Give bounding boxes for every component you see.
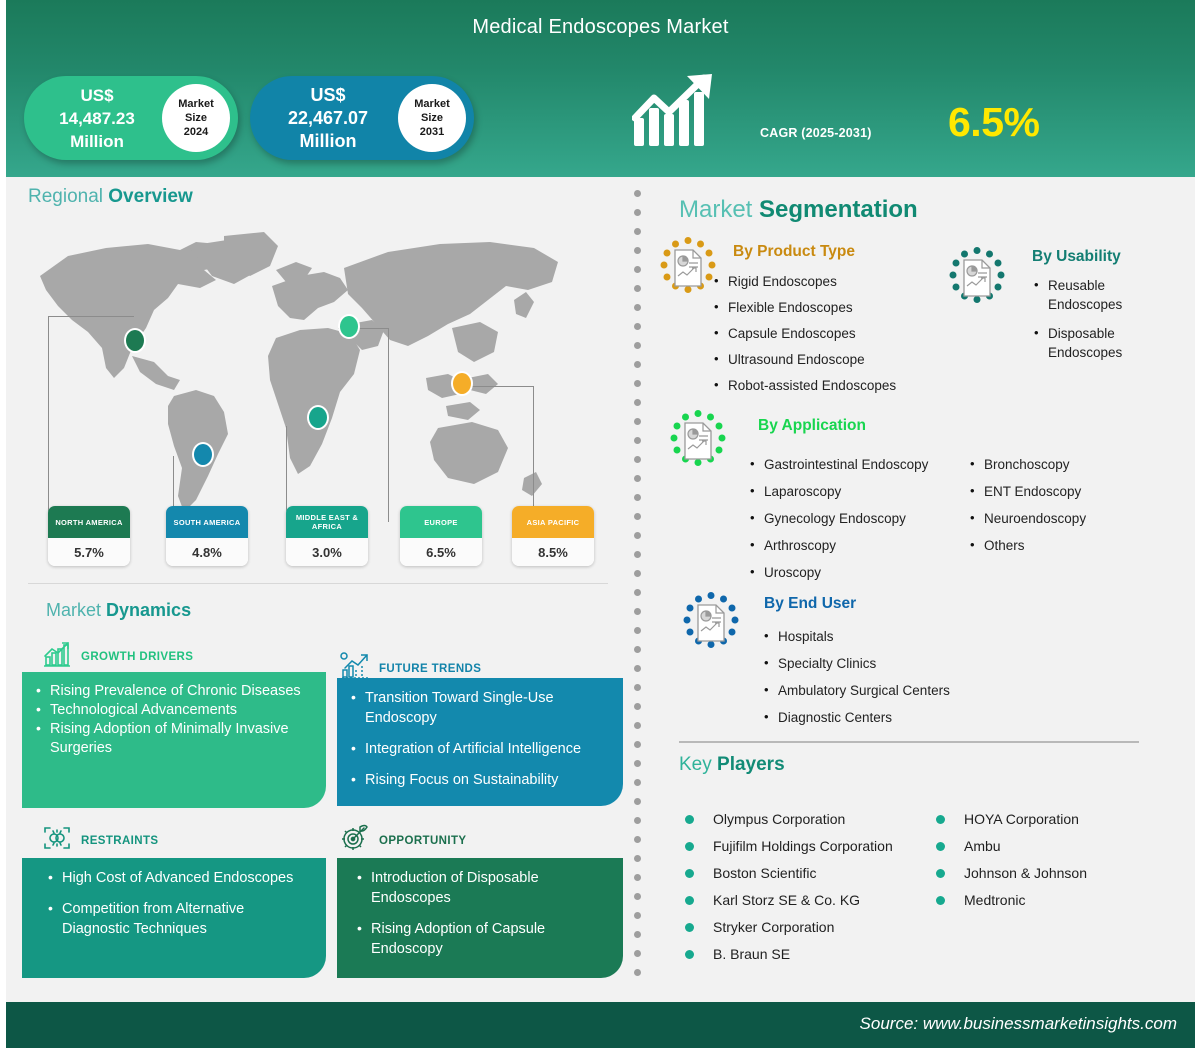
list-item: Neuroendoscopy	[968, 510, 1168, 527]
list-item: HOYA Corporation	[930, 810, 1180, 828]
divider-dot	[634, 228, 641, 235]
segment-list-end-user: Hospitals Specialty Clinics Ambulatory S…	[762, 628, 1012, 736]
bar-chart-arrow-up-icon	[632, 74, 718, 150]
growth-drivers-card: Rising Prevalence of Chronic Diseases Te…	[22, 672, 326, 808]
list-item: Transition Toward Single-Use Endoscopy	[351, 688, 609, 728]
list-item: Laparoscopy	[748, 483, 978, 500]
list-item: Fujifilm Holdings Corporation	[679, 837, 959, 855]
header-banner: Medical Endoscopes Market US$ 14,487.23 …	[0, 0, 1201, 177]
divider-dot	[634, 836, 641, 843]
list-item: ENT Endoscopy	[968, 483, 1168, 500]
amount-line-value: 14,487.23	[32, 107, 162, 130]
opportunity-label: OPPORTUNITY	[379, 835, 466, 847]
divider-dot	[634, 627, 641, 634]
list-item: Rigid Endoscopes	[712, 273, 932, 290]
divider-dot	[634, 456, 641, 463]
badge-line2: Size	[421, 111, 443, 125]
divider-dot	[634, 475, 641, 482]
leader-line-asia-pacific	[533, 386, 534, 522]
list-item: Diagnostic Centers	[762, 709, 1012, 726]
list-item: Stryker Corporation	[679, 918, 959, 936]
divider-dot	[634, 608, 641, 615]
growth-drivers-list: Rising Prevalence of Chronic Diseases Te…	[36, 682, 312, 758]
vertical-dotted-divider	[634, 190, 642, 990]
amount-line-currency: US$	[258, 84, 398, 107]
list-item: Hospitals	[762, 628, 1012, 645]
restraints-list: High Cost of Advanced Endoscopes Competi…	[48, 868, 312, 939]
gear-target-icon	[340, 824, 370, 857]
growth-drivers-header: GROWTH DRIVERS	[42, 640, 193, 673]
list-item: Ambulatory Surgical Centers	[762, 682, 1012, 699]
region-value: 3.0%	[286, 538, 368, 566]
list-item: Rising Prevalence of Chronic Diseases	[36, 682, 312, 701]
world-map	[28, 228, 608, 518]
title-light: Regional	[28, 186, 103, 207]
badge-line3: 2031	[420, 125, 444, 139]
title-light: Key	[679, 754, 712, 775]
divider-dot	[634, 874, 641, 881]
divider-dot	[634, 798, 641, 805]
leader-line-asia-pacific-h	[463, 386, 534, 387]
divider-dot	[634, 931, 641, 938]
opportunity-card: Introduction of Disposable Endoscopes Ri…	[337, 858, 623, 978]
divider-dot	[634, 494, 641, 501]
segment-list-application-col2: Bronchoscopy ENT Endoscopy Neuroendoscop…	[968, 456, 1168, 564]
region-card-north-america[interactable]: NORTH AMERICA 5.7%	[48, 506, 130, 566]
list-item: Rising Focus on Sustainability	[351, 770, 609, 790]
leader-line-north-america	[48, 316, 49, 522]
divider-dot	[634, 513, 641, 520]
restraints-label: RESTRAINTS	[81, 835, 158, 847]
infographic-page: Medical Endoscopes Market US$ 14,487.23 …	[0, 0, 1201, 1048]
region-card-south-america[interactable]: SOUTH AMERICA 4.8%	[166, 506, 248, 566]
divider-dot	[634, 950, 641, 957]
divider-dot	[634, 912, 641, 919]
divider-dot	[634, 437, 641, 444]
region-name: NORTH AMERICA	[48, 506, 130, 538]
title-bold: Dynamics	[106, 600, 191, 620]
source-text: Source: www.businessmarketinsights.com	[860, 1014, 1177, 1034]
list-item: Uroscopy	[748, 564, 978, 581]
amount-line-currency: US$	[32, 84, 162, 107]
divider-dot	[634, 570, 641, 577]
divider-dot	[634, 969, 641, 976]
divider-dot	[634, 665, 641, 672]
segment-heading-end-user: By End User	[764, 595, 856, 613]
report-document-icon	[946, 247, 1008, 309]
market-dynamics-title: Market Dynamics	[46, 600, 191, 621]
divider-dot	[634, 893, 641, 900]
map-marker-middle-east-africa	[307, 405, 329, 431]
region-value: 5.7%	[48, 538, 130, 566]
badge-line3: 2024	[184, 125, 208, 139]
page-title: Medical Endoscopes Market	[0, 16, 1201, 39]
market-size-2024-badge: Market Size 2024	[162, 84, 230, 152]
right-edge-margin	[1195, 0, 1201, 1048]
list-item: Rising Adoption of Capsule Endoscopy	[357, 919, 609, 959]
future-trends-card: Transition Toward Single-Use Endoscopy I…	[337, 678, 623, 806]
key-players-column-1: Olympus Corporation Fujifilm Holdings Co…	[679, 810, 959, 972]
market-size-2024-amount: US$ 14,487.23 Million	[24, 84, 162, 153]
divider-dot	[634, 760, 641, 767]
title-bold: Segmentation	[759, 196, 918, 223]
region-card-middle-east-africa[interactable]: MIDDLE EAST & AFRICA 3.0%	[286, 506, 368, 566]
map-marker-north-america	[124, 328, 146, 354]
list-item: Robot-assisted Endoscopes	[712, 377, 932, 394]
opportunity-header: OPPORTUNITY	[340, 824, 466, 857]
regional-overview-title: Regional Overview	[28, 186, 193, 208]
list-item: Competition from Alternative Diagnostic …	[48, 899, 312, 939]
list-item: B. Braun SE	[679, 945, 959, 963]
divider-dot	[634, 304, 641, 311]
region-name: SOUTH AMERICA	[166, 506, 248, 538]
divider-dot	[634, 399, 641, 406]
region-value: 4.8%	[166, 538, 248, 566]
list-item: Boston Scientific	[679, 864, 959, 882]
list-item: Ambu	[930, 837, 1180, 855]
market-size-2031-badge: Market Size 2031	[398, 84, 466, 152]
region-name: EUROPE	[400, 506, 482, 538]
title-light: Market	[46, 600, 101, 620]
divider-dot	[634, 741, 641, 748]
list-item: High Cost of Advanced Endoscopes	[48, 868, 312, 888]
divider-dot	[634, 646, 641, 653]
amount-line-unit: Million	[32, 130, 162, 153]
region-name: MIDDLE EAST & AFRICA	[286, 506, 368, 538]
list-item: Technological Advancements	[36, 701, 312, 720]
report-document-icon	[667, 410, 729, 472]
section-divider	[28, 583, 608, 584]
divider-dot	[634, 703, 641, 710]
title-light: Market	[679, 196, 752, 223]
map-marker-europe	[338, 314, 360, 340]
leader-line-north-america-h	[48, 316, 134, 317]
title-bold: Overview	[108, 186, 193, 207]
key-players-divider	[679, 741, 1139, 743]
market-segmentation-title: Market Segmentation	[679, 196, 918, 224]
list-item: Disposable Endoscopes	[1032, 324, 1137, 362]
list-item: Others	[968, 537, 1168, 554]
list-item: Medtronic	[930, 891, 1180, 909]
region-value: 8.5%	[512, 538, 594, 566]
region-value: 6.5%	[400, 538, 482, 566]
list-item: Gastrointestinal Endoscopy	[748, 456, 978, 473]
market-size-2031-amount: US$ 22,467.07 Million	[250, 84, 398, 153]
divider-dot	[634, 532, 641, 539]
list-item: Flexible Endoscopes	[712, 299, 932, 316]
broken-link-icon	[42, 824, 72, 857]
divider-dot	[634, 589, 641, 596]
divider-dot	[634, 855, 641, 862]
list-item: Arthroscopy	[748, 537, 978, 554]
badge-line1: Market	[178, 97, 213, 111]
list-item: Rising Adoption of Minimally Invasive Su…	[36, 720, 312, 758]
growth-drivers-label: GROWTH DRIVERS	[81, 651, 193, 663]
growth-chart-icon	[42, 640, 72, 673]
segment-list-product-type: Rigid Endoscopes Flexible Endoscopes Cap…	[712, 273, 932, 403]
list-item: Gynecology Endoscopy	[748, 510, 978, 527]
divider-dot	[634, 361, 641, 368]
report-document-icon	[680, 592, 742, 654]
report-document-icon	[657, 237, 719, 299]
list-item: Introduction of Disposable Endoscopes	[357, 868, 609, 908]
list-item: Capsule Endoscopes	[712, 325, 932, 342]
segment-heading-usability: By Usability	[1032, 248, 1121, 266]
list-item: Johnson & Johnson	[930, 864, 1180, 882]
amount-line-value: 22,467.07	[258, 107, 398, 130]
map-marker-south-america	[192, 442, 214, 468]
list-item: Integration of Artificial Intelligence	[351, 739, 609, 759]
left-edge-margin	[0, 0, 6, 1048]
divider-dot	[634, 266, 641, 273]
divider-dot	[634, 551, 641, 558]
key-players-column-2: HOYA Corporation Ambu Johnson & Johnson …	[930, 810, 1180, 918]
divider-dot	[634, 190, 641, 197]
future-trends-list: Transition Toward Single-Use Endoscopy I…	[351, 688, 609, 790]
divider-dot	[634, 779, 641, 786]
segment-list-application-col1: Gastrointestinal Endoscopy Laparoscopy G…	[748, 456, 978, 591]
restraints-header: RESTRAINTS	[42, 824, 158, 857]
title-bold: Players	[717, 754, 785, 775]
divider-dot	[634, 684, 641, 691]
divider-dot	[634, 342, 641, 349]
market-size-2031-pill: US$ 22,467.07 Million Market Size 2031	[250, 76, 474, 160]
divider-dot	[634, 817, 641, 824]
divider-dot	[634, 285, 641, 292]
opportunity-list: Introduction of Disposable Endoscopes Ri…	[357, 868, 609, 959]
divider-dot	[634, 209, 641, 216]
leader-line-europe	[388, 328, 389, 522]
list-item: Ultrasound Endoscope	[712, 351, 932, 368]
segment-list-usability: Reusable Endoscopes Disposable Endoscope…	[1032, 276, 1137, 372]
map-marker-asia-pacific	[451, 371, 473, 397]
key-players-title: Key Players	[679, 754, 785, 776]
cagr-label: CAGR (2025-2031)	[760, 126, 872, 140]
divider-dot	[634, 722, 641, 729]
region-card-europe[interactable]: EUROPE 6.5%	[400, 506, 482, 566]
segment-heading-application: By Application	[758, 417, 866, 435]
future-trends-label: FUTURE TRENDS	[379, 663, 481, 675]
region-card-asia-pacific[interactable]: ASIA PACIFIC 8.5%	[512, 506, 594, 566]
amount-line-unit: Million	[258, 130, 398, 153]
market-size-2024-pill: US$ 14,487.23 Million Market Size 2024	[24, 76, 238, 160]
divider-dot	[634, 418, 641, 425]
segment-heading-product-type: By Product Type	[733, 243, 855, 261]
divider-dot	[634, 247, 641, 254]
footer-bar: Source: www.businessmarketinsights.com	[0, 1002, 1201, 1048]
badge-line2: Size	[185, 111, 207, 125]
restraints-card: High Cost of Advanced Endoscopes Competi…	[22, 858, 326, 978]
list-item: Bronchoscopy	[968, 456, 1168, 473]
list-item: Reusable Endoscopes	[1032, 276, 1137, 314]
list-item: Karl Storz SE & Co. KG	[679, 891, 959, 909]
list-item: Olympus Corporation	[679, 810, 959, 828]
divider-dot	[634, 323, 641, 330]
list-item: Specialty Clinics	[762, 655, 1012, 672]
divider-dot	[634, 380, 641, 387]
badge-line1: Market	[414, 97, 449, 111]
region-name: ASIA PACIFIC	[512, 506, 594, 538]
cagr-value: 6.5%	[948, 99, 1039, 146]
